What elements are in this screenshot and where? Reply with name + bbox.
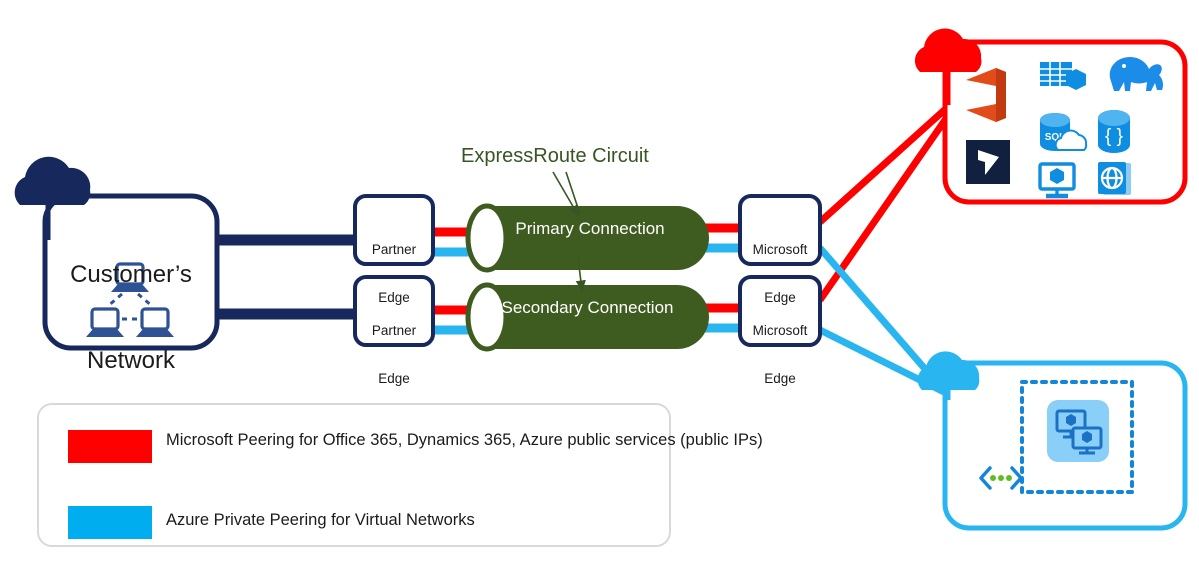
dynamics-365-icon [966, 140, 1010, 184]
private-vnet-cloud-group[interactable] [918, 351, 1185, 528]
microsoft-edge-label-secondary: Microsoft Edge [740, 291, 820, 418]
expressroute-circuit-label: ExpressRoute Circuit [461, 145, 649, 169]
cosmos-db-icon: { } [1098, 110, 1130, 153]
red-cloud-icon [915, 29, 982, 72]
partner-edge-label-secondary-line2: Edge [355, 371, 433, 387]
partner-edge-label-secondary-line1: Partner [355, 323, 433, 339]
legend-label-private-peering: Azure Private Peering for Virtual Networ… [166, 509, 636, 532]
web-app-icon [1098, 162, 1131, 195]
legend-label-microsoft-peering: Microsoft Peering for Office 365, Dynami… [166, 429, 636, 452]
peering-link-lines [820, 105, 952, 400]
customer-network-title-line1: Customer’s [45, 261, 217, 290]
private-peering-swatch [68, 506, 152, 539]
microsoft-edge-label-primary-line1: Microsoft [740, 242, 820, 258]
expressroute-diagram: SQL { } [0, 0, 1199, 573]
svg-text:{ }: { } [1105, 126, 1123, 147]
partner-edge-label-primary-line1: Partner [355, 242, 433, 258]
customer-trunk-lines [214, 240, 356, 314]
primary-connection-label: Primary Connection [500, 219, 680, 239]
customer-network-title: Customer’s Network [45, 203, 217, 433]
microsoft-peering-swatch [68, 430, 152, 463]
microsoft-edge-label-secondary-line1: Microsoft [740, 323, 820, 339]
blue-cloud-icon [918, 351, 980, 390]
microsoft-edge-label-secondary-line2: Edge [740, 371, 820, 387]
partner-edge-label-secondary: Partner Edge [355, 291, 433, 418]
cloud-icon [15, 157, 91, 205]
customer-network-title-line2: Network [45, 347, 217, 376]
cylinder-rightcap-primary [677, 206, 709, 270]
secondary-connection-label: Secondary Connection [490, 298, 685, 318]
